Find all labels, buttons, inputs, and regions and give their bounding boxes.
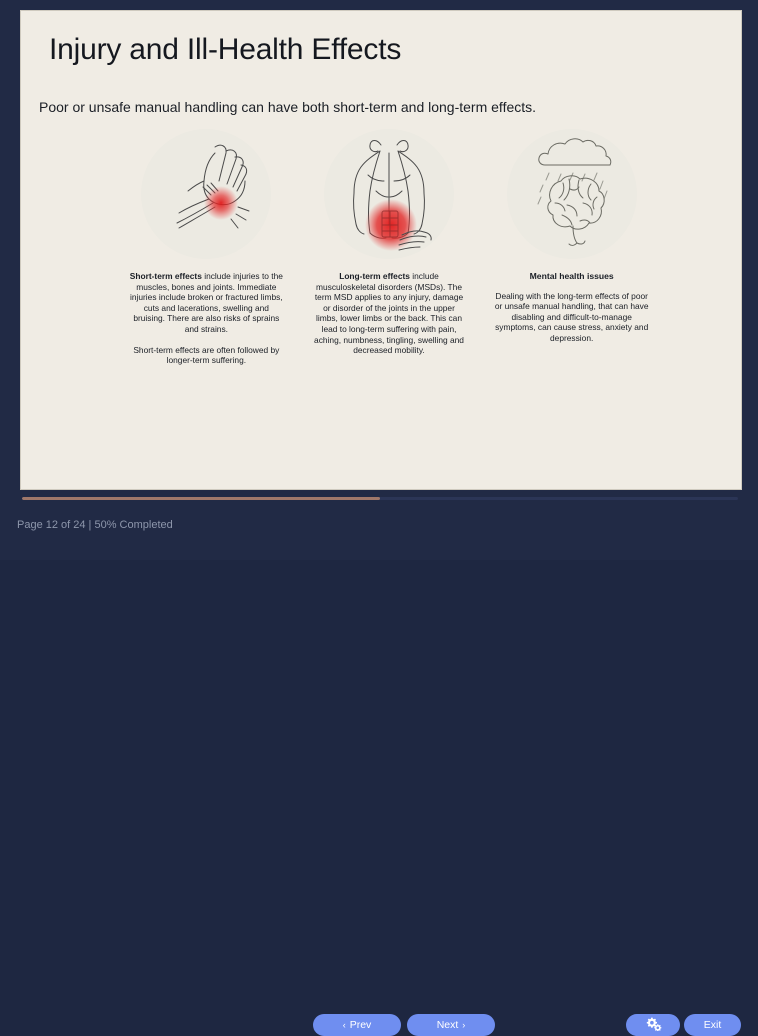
column-text-short-term: Short-term effects include injuries to t…	[129, 271, 284, 366]
settings-button[interactable]	[626, 1014, 680, 1036]
column-text-long-term: Long-term effects include musculoskeleta…	[312, 271, 467, 356]
column-body: Dealing with the long-term effects of po…	[494, 291, 649, 344]
effects-column-mental-health: Mental health issues Dealing with the lo…	[494, 129, 649, 366]
page-status-text: Page 12 of 24 | 50% Completed	[17, 519, 173, 531]
lower-back-pain-icon	[324, 129, 454, 259]
effects-column-short-term: Short-term effects include injuries to t…	[129, 129, 284, 366]
exit-button-label: Exit	[704, 1019, 722, 1031]
column-heading: Mental health issues	[494, 271, 649, 282]
column-text-mental-health: Mental health issues Dealing with the lo…	[494, 271, 649, 344]
column-lead: Short-term effects	[130, 271, 202, 281]
column-body-secondary: Short-term effects are often followed by…	[129, 345, 284, 366]
slide-panel: Injury and Ill-Health Effects Poor or un…	[20, 10, 742, 490]
next-button[interactable]: Next ›	[407, 1014, 495, 1036]
course-player: Injury and Ill-Health Effects Poor or un…	[0, 0, 758, 560]
next-button-label: Next	[437, 1019, 459, 1031]
chevron-right-icon: ›	[462, 1021, 465, 1030]
course-progress-bar	[22, 497, 738, 500]
chevron-left-icon: ‹	[343, 1021, 346, 1030]
course-progress-fill	[22, 497, 380, 500]
prev-button-label: Prev	[350, 1019, 372, 1031]
brain-rain-cloud-icon	[507, 129, 637, 259]
slide-subtitle: Poor or unsafe manual handling can have …	[39, 99, 536, 115]
exit-button[interactable]: Exit	[684, 1014, 741, 1036]
page-title: Injury and Ill-Health Effects	[49, 33, 401, 67]
effects-columns: Short-term effects include injuries to t…	[129, 129, 649, 366]
column-lead: Long-term effects	[339, 271, 410, 281]
gear-icon	[645, 1017, 662, 1034]
column-body: include musculoskeletal disorders (MSDs)…	[314, 271, 464, 355]
prev-button[interactable]: ‹ Prev	[313, 1014, 401, 1036]
effects-column-long-term: Long-term effects include musculoskeleta…	[312, 129, 467, 366]
injured-wrist-icon	[141, 129, 271, 259]
player-footer: Page 12 of 24 | 50% Completed ‹ Prev Nex…	[0, 505, 758, 560]
